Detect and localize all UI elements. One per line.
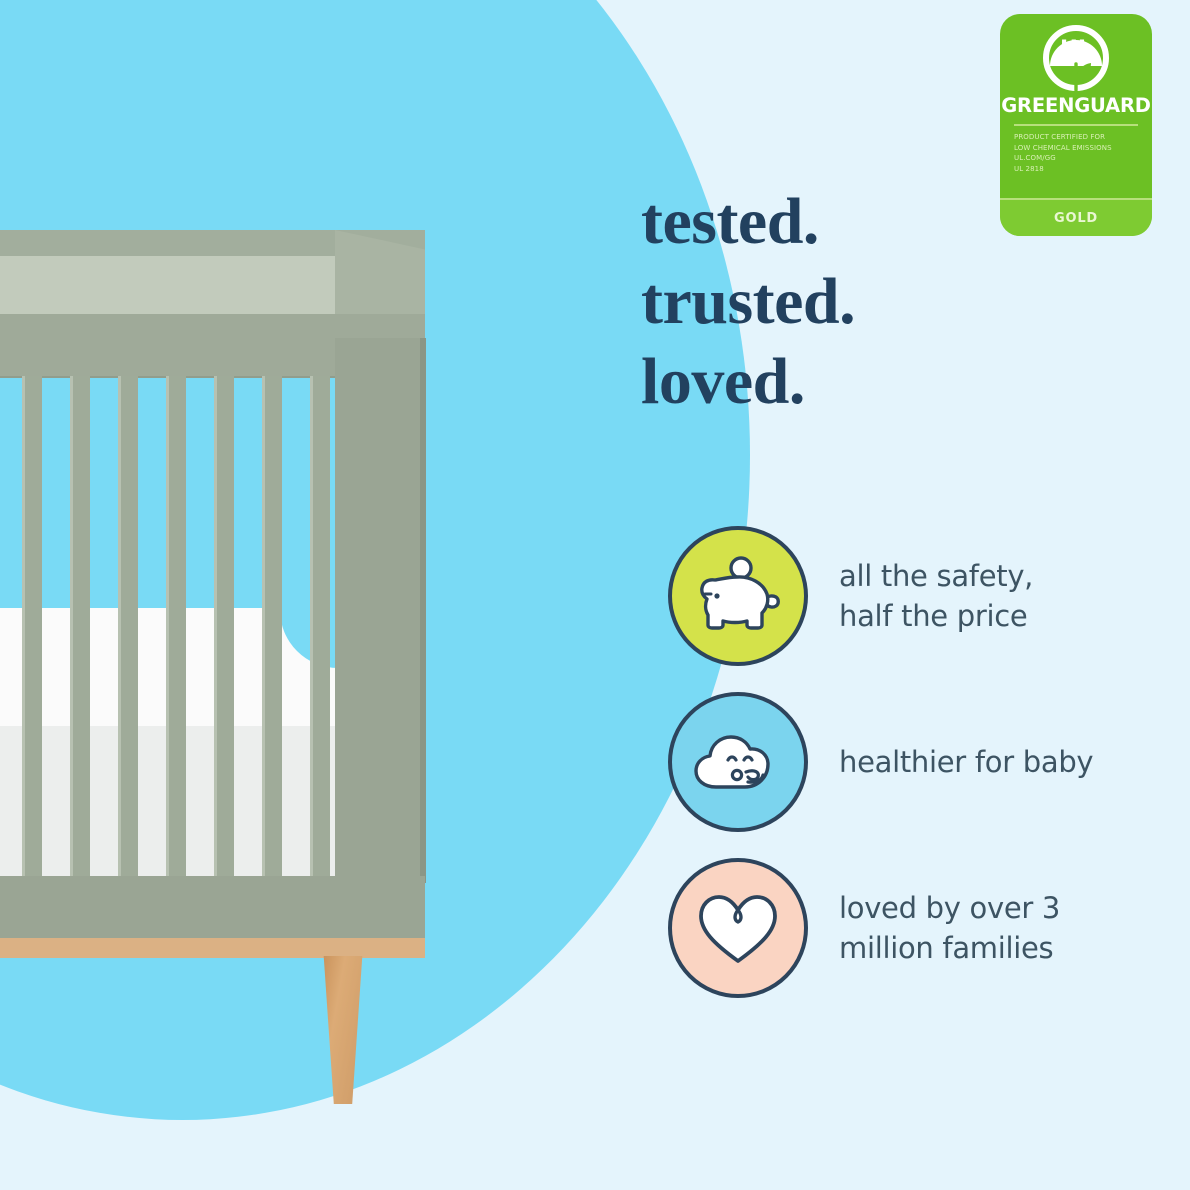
ul-leaf-icon: UL bbox=[1040, 24, 1112, 96]
benefit-text-health: healthier for baby bbox=[839, 742, 1093, 782]
crib-slat bbox=[22, 376, 42, 876]
crib-top-rail-inner bbox=[0, 256, 380, 314]
promo-poster: UL GREENGUARD PRODUCT CERTIFIED FOR LOW … bbox=[0, 0, 1190, 1190]
badge-fine-print-line: PRODUCT CERTIFIED FOR bbox=[1014, 132, 1138, 143]
crib-slat bbox=[118, 376, 138, 876]
benefit-item-health: healthier for baby bbox=[668, 689, 1158, 834]
benefit-item-loved: loved by over 3 million families bbox=[668, 855, 1158, 1000]
heart-icon bbox=[668, 858, 808, 998]
headline-line-tested: tested. bbox=[641, 182, 1121, 262]
benefit-text-line: healthier for baby bbox=[839, 742, 1093, 782]
crib-end-panel bbox=[335, 338, 425, 883]
crib-slat-zone bbox=[0, 376, 338, 876]
headline-line-loved: loved. bbox=[641, 342, 1121, 422]
benefit-text-line: all the safety, bbox=[839, 556, 1033, 596]
benefits-list: all the safety, half the price healthier… bbox=[668, 523, 1158, 1021]
badge-fine-print-line: UL.COM/GG bbox=[1014, 153, 1138, 164]
benefit-text-line: million families bbox=[839, 928, 1060, 968]
benefit-text-loved: loved by over 3 million families bbox=[839, 888, 1060, 968]
piggy-bank-glyph bbox=[692, 555, 784, 637]
benefit-text-savings: all the safety, half the price bbox=[839, 556, 1033, 636]
crib-slat bbox=[310, 376, 330, 876]
crib-slat bbox=[214, 376, 234, 876]
crib-slat bbox=[262, 376, 282, 876]
badge-fine-print-line: UL 2818 bbox=[1014, 164, 1138, 175]
headline: tested. trusted. loved. bbox=[641, 182, 1121, 422]
crib-bottom-rail bbox=[0, 876, 425, 938]
benefit-text-line: loved by over 3 bbox=[839, 888, 1060, 928]
crib-product-image bbox=[0, 220, 520, 1030]
crib-end-panel-edge bbox=[420, 338, 426, 883]
badge-divider bbox=[1014, 124, 1138, 126]
breathing-cloud-glyph bbox=[690, 725, 786, 799]
piggy-bank-icon bbox=[668, 526, 808, 666]
crib-slat bbox=[70, 376, 90, 876]
heart-glyph bbox=[693, 887, 783, 969]
benefit-item-savings: all the safety, half the price bbox=[668, 523, 1158, 668]
svg-text:UL: UL bbox=[1060, 37, 1092, 62]
badge-fine-print: PRODUCT CERTIFIED FOR LOW CHEMICAL EMISS… bbox=[1014, 132, 1138, 174]
breathing-cloud-icon bbox=[668, 692, 808, 832]
crib-slat bbox=[166, 376, 186, 876]
greenguard-wordmark: GREENGUARD bbox=[1001, 94, 1151, 117]
headline-line-trusted: trusted. bbox=[641, 262, 1121, 342]
badge-fine-print-line: LOW CHEMICAL EMISSIONS bbox=[1014, 143, 1138, 154]
benefit-text-line: half the price bbox=[839, 596, 1033, 636]
crib-wood-base-rail bbox=[0, 938, 425, 958]
